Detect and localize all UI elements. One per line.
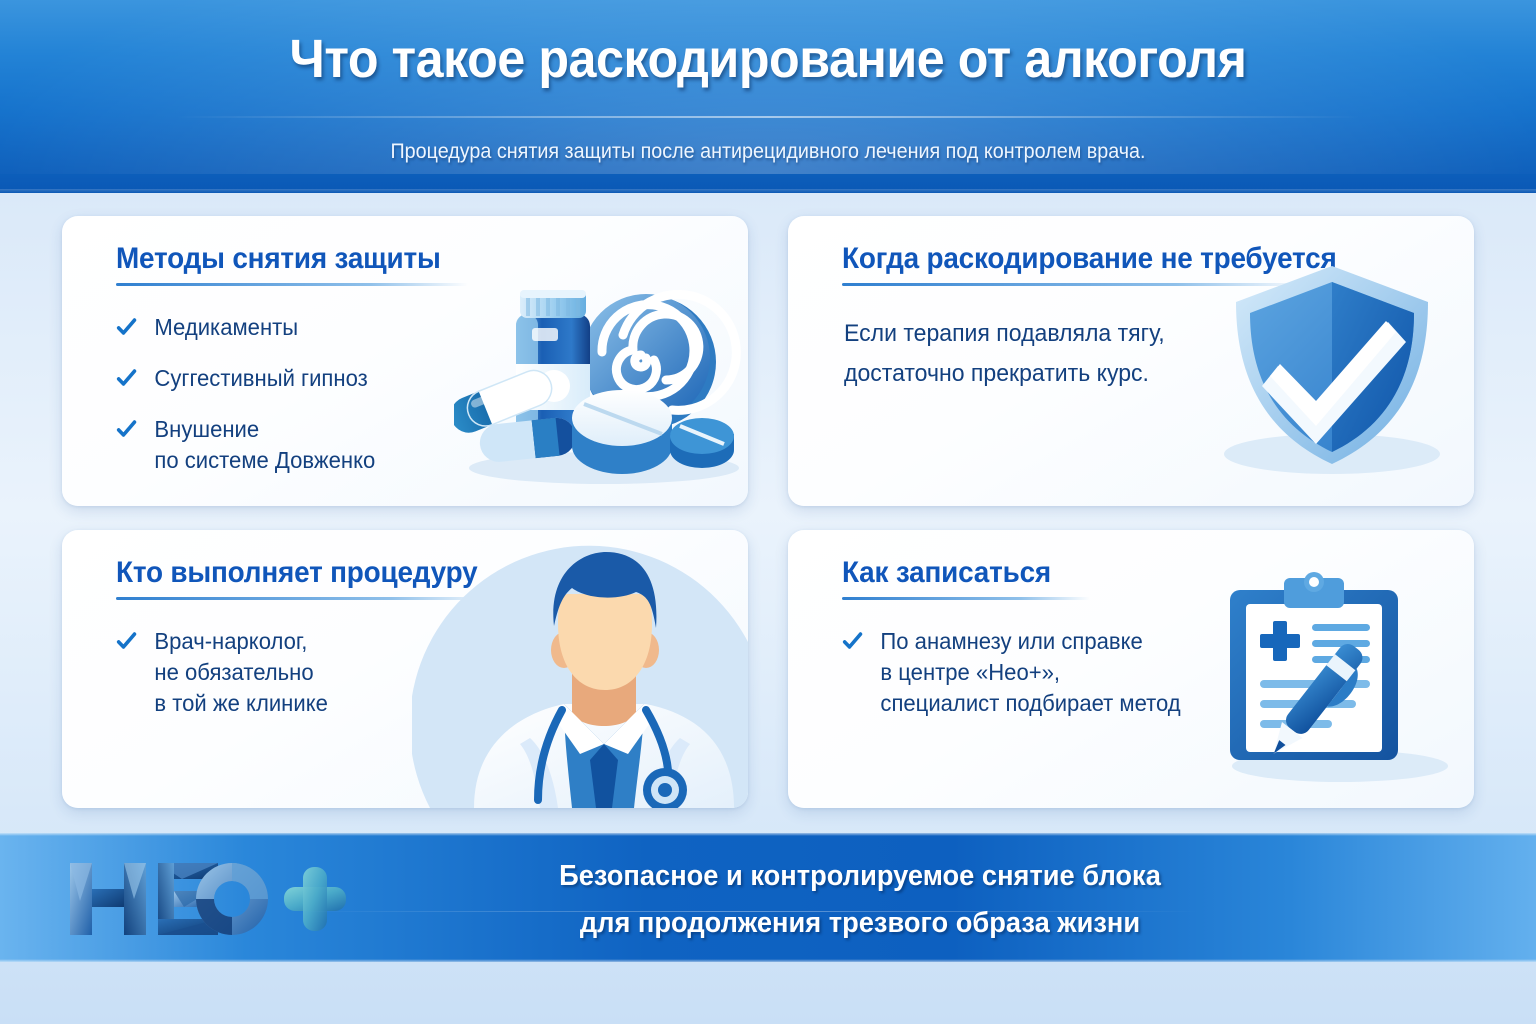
card-title-underline: [842, 597, 1090, 600]
list-item-label: Внушение: [154, 416, 259, 442]
list-item: Медикаменты: [116, 312, 375, 343]
list-item: Врач-нарколог, не обязательно в той же к…: [116, 626, 328, 719]
check-icon: [116, 316, 137, 338]
page-subtitle: Процедура снятия защиты после антирециди…: [46, 140, 1490, 164]
infographic-poster: Что такое раскодирование от алкоголя Про…: [0, 0, 1536, 1024]
list-item: Суггестивный гипноз: [116, 363, 375, 394]
card-who-performs: Кто выполняет процедуру Врач-нарколог, н…: [62, 530, 748, 808]
footer-tagline-line-1: Безопасное и контролируемое снятие блока: [390, 853, 1330, 900]
bullet-list: По анамнезу или справке в центре «Нео+»,…: [842, 626, 1195, 739]
list-item-subline-2: специалист подбирает метод: [880, 688, 1180, 719]
card-grid: Методы снятия защиты Медикаменты Суггест…: [62, 216, 1474, 808]
footer-tagline-line-2: для продолжения трезвого образа жизни: [390, 900, 1330, 947]
footer-tagline: Безопасное и контролируемое снятие блока…: [390, 853, 1330, 947]
clipboard-pen-icon: [1208, 568, 1452, 786]
header-banner: Что такое раскодирование от алкоголя Про…: [0, 0, 1536, 193]
check-icon: [116, 418, 137, 440]
page-title: Что такое раскодирование от алкоголя: [54, 28, 1482, 90]
bullet-list: Медикаменты Суггестивный гипноз Внушение…: [116, 312, 386, 496]
list-item-label: Врач-нарколог,: [154, 628, 307, 654]
list-item-label: По анамнезу или справке: [880, 628, 1142, 654]
doctor-icon: [412, 538, 748, 808]
paragraph-line-2: достаточно прекратить курс.: [844, 354, 1165, 394]
list-item-subline-2: в той же клинике: [154, 688, 328, 719]
card-when-not-needed: Когда раскодирование не требуется Если т…: [788, 216, 1474, 506]
list-item-label: Медикаменты: [154, 314, 298, 340]
list-item-subline-1: не обязательно: [154, 657, 328, 688]
list-item: Внушение по системе Довженко: [116, 414, 375, 476]
card-methods: Методы снятия защиты Медикаменты Суггест…: [62, 216, 748, 506]
title-divider: [175, 116, 1361, 118]
list-item-subline-1: в центре «Нео+»,: [880, 657, 1180, 688]
neo-plus-logo: [62, 857, 352, 941]
card-how-to-book: Как записаться По анамнезу или справке в…: [788, 530, 1474, 808]
card-title-underline: [116, 283, 468, 286]
card-title: Методы снятия защиты: [116, 242, 667, 276]
pills-and-spiral-icon: [454, 276, 748, 491]
card-paragraph: Если терапия подавляла тягу, достаточно …: [844, 314, 1165, 394]
list-item-label: Суггестивный гипноз: [154, 365, 367, 391]
list-item-subline: по системе Довженко: [154, 445, 375, 476]
check-icon: [116, 630, 137, 652]
bullet-list: Врач-нарколог, не обязательно в той же к…: [116, 626, 337, 739]
list-item: По анамнезу или справке в центре «Нео+»,…: [842, 626, 1181, 719]
check-icon: [842, 630, 863, 652]
paragraph-line-1: Если терапия подавляла тягу,: [844, 314, 1165, 354]
shield-check-icon: [1220, 258, 1450, 480]
footer-banner: Безопасное и контролируемое снятие блока…: [0, 833, 1536, 962]
check-icon: [116, 367, 137, 389]
